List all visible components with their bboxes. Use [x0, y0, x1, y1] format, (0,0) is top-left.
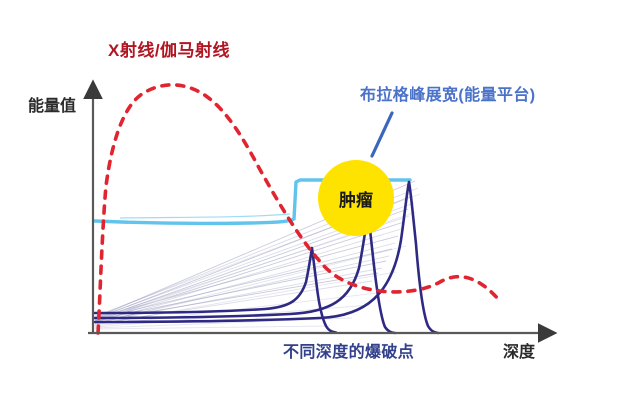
sobp-leader-line — [372, 113, 392, 156]
burst-points-label: 不同深度的爆破点 — [283, 345, 414, 361]
sobp-plateau-curve-secondary — [120, 214, 290, 218]
tumor-marker: 肿瘤 — [318, 160, 394, 236]
sobp-curve-label: 布拉格峰展宽(能量平台) — [360, 88, 535, 104]
tumor-label-text: 肿瘤 — [339, 186, 373, 211]
y-axis-label: 能量值 — [28, 99, 76, 115]
xray-curve-label: X射线/伽马射线 — [108, 42, 230, 59]
x-axis-label: 深度 — [503, 345, 535, 361]
figure-canvas: 肿瘤 X射线/伽马射线 布拉格峰展宽(能量平台) 能量值 深度 不同深度的爆破点 — [0, 0, 643, 414]
